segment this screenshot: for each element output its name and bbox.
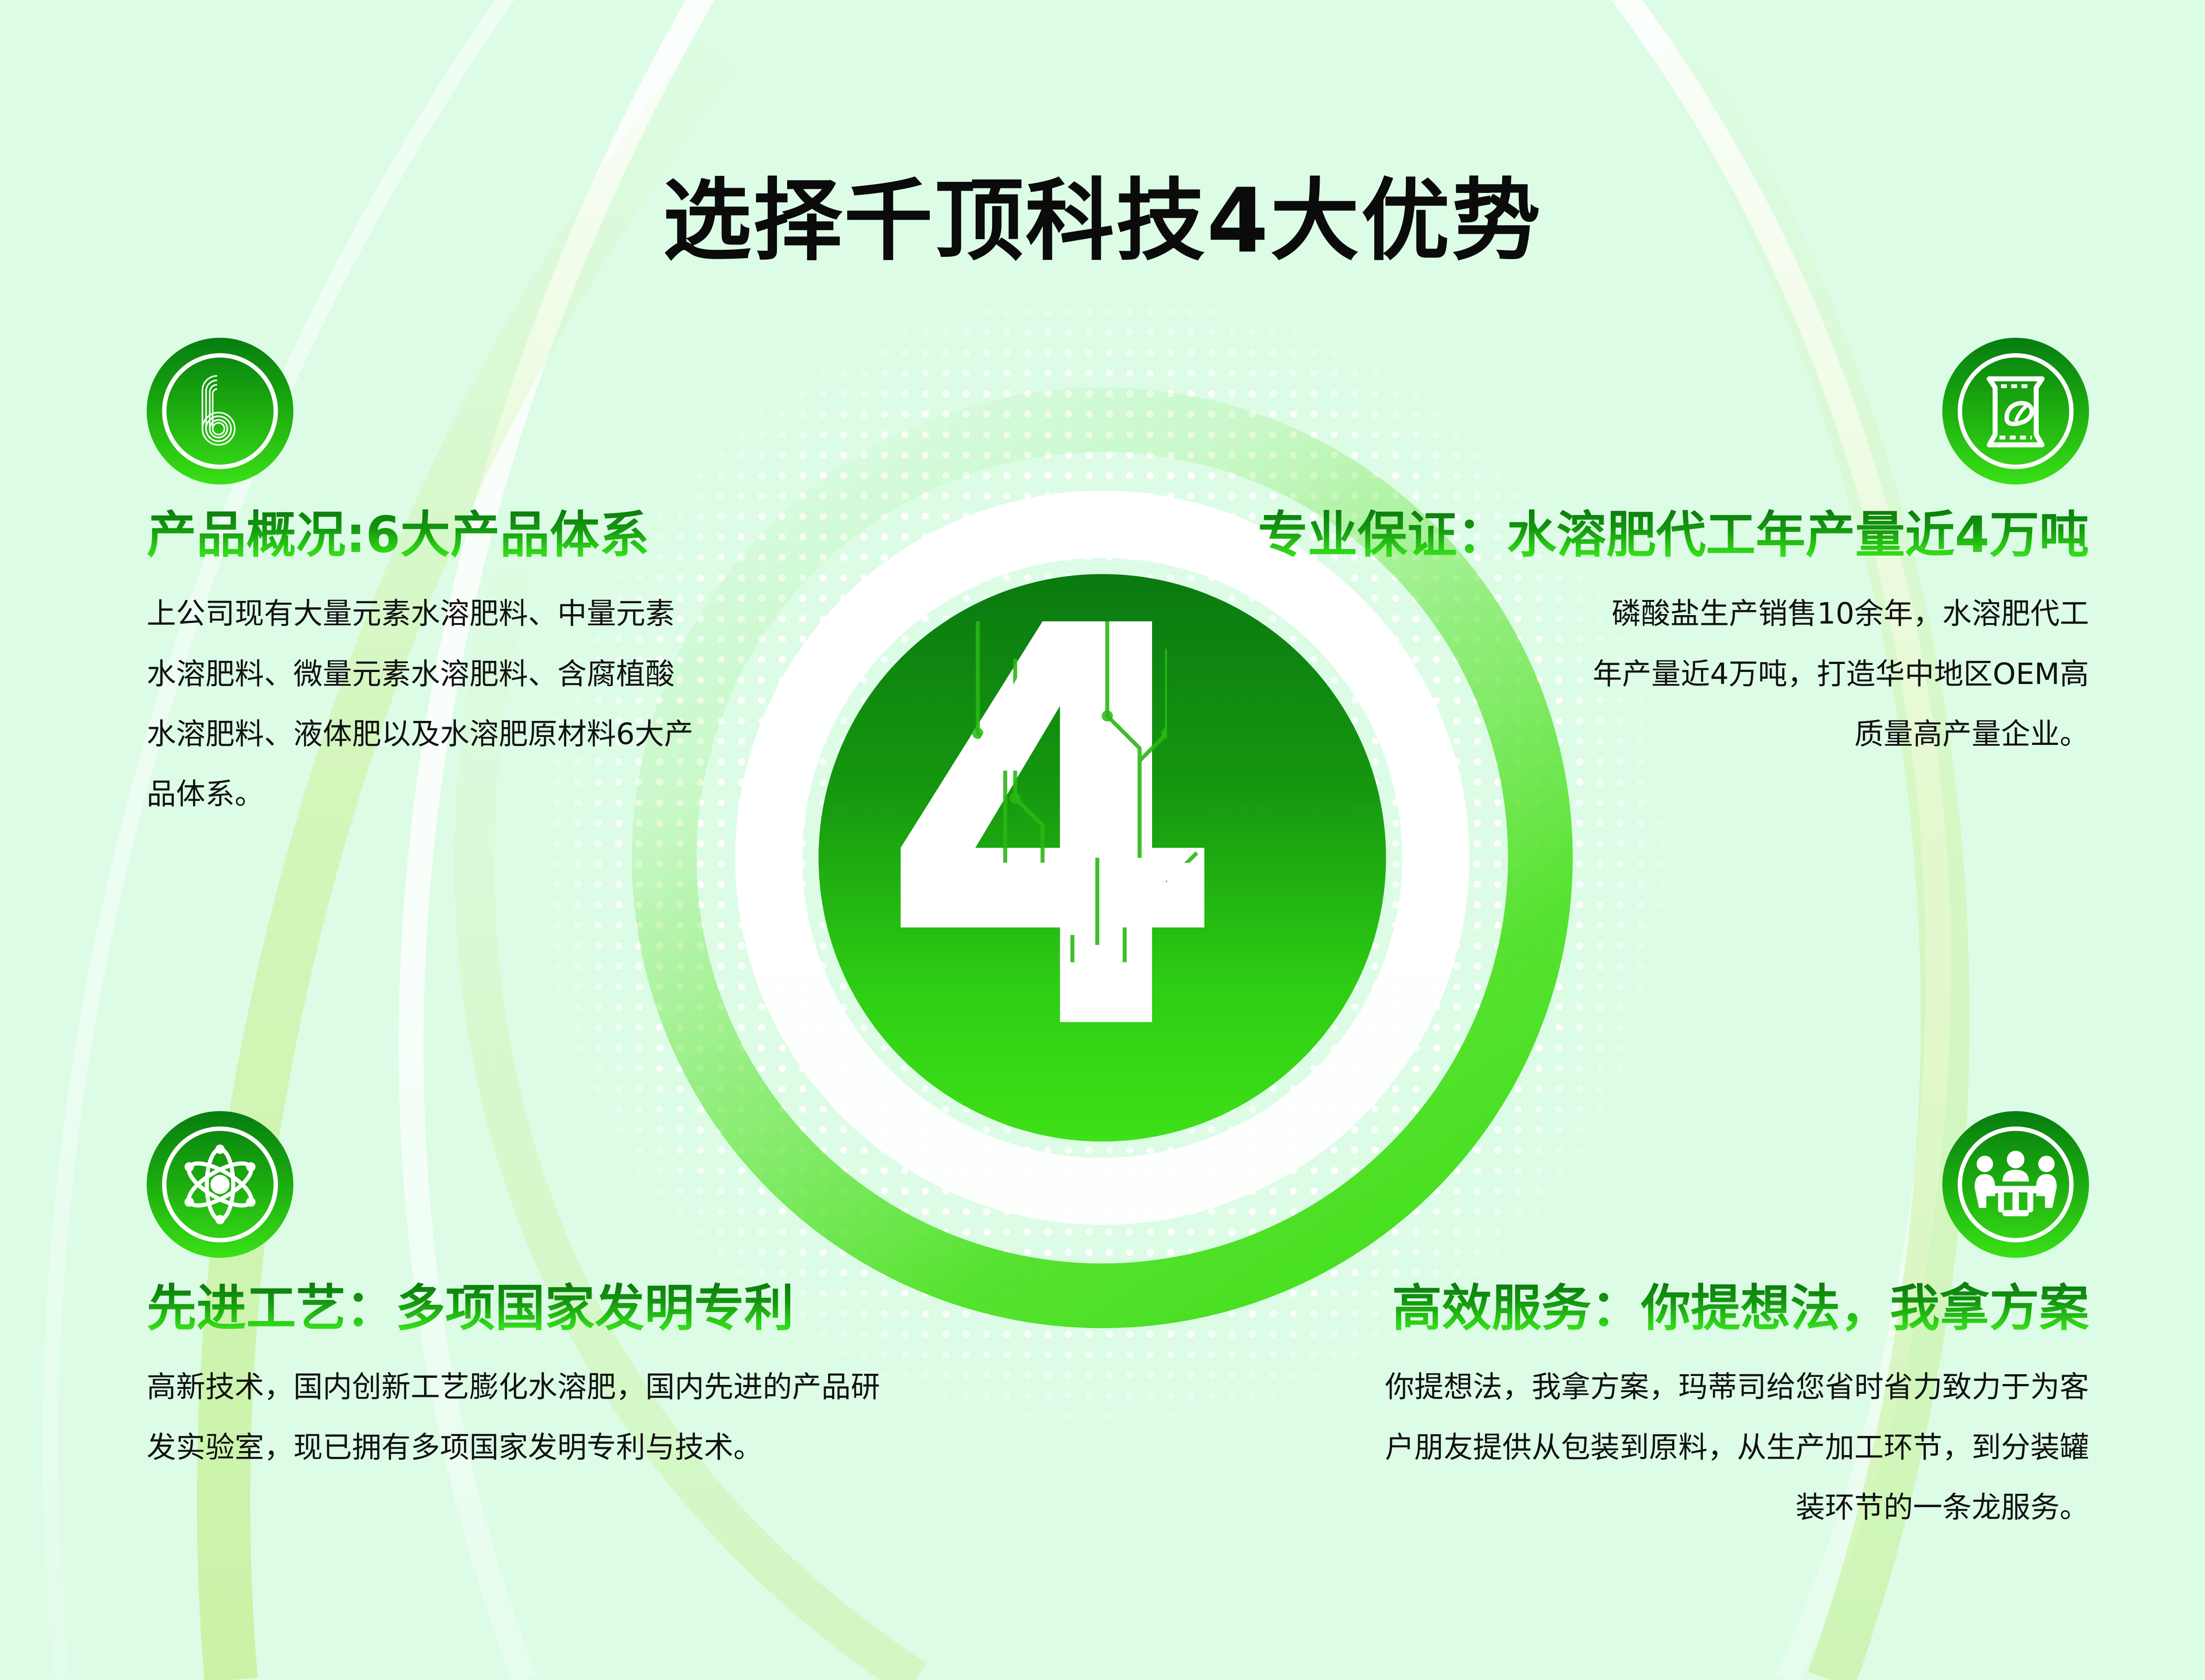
advantage-block-professional-guarantee: 专业保证：水溶肥代工年产量近4万吨 磷酸盐生产销售10余年，水溶肥代工年产量近4… [1191,338,2089,764]
advantage-body: 高新技术，国内创新工艺膨化水溶肥，国内先进的产品研发实验室，现已拥有多项国家发明… [147,1357,893,1477]
advantage-heading: 先进工艺：多项国家发明专利 [147,1281,893,1336]
fertilizer-bag-icon [1942,338,2089,484]
advantage-body: 你提想法，我拿方案，玛蒂司给您省时省力致力于为客户朋友提供从包装到原料，从生产加… [1382,1357,2089,1537]
fertilizer-bag-glyph [1942,338,2089,484]
advantage-body: 上公司现有大量元素水溶肥料、中量元素水溶肥料、微量元素水溶肥料、含腐植酸水溶肥料… [147,584,693,824]
numeral-six-ripple-glyph [147,338,293,484]
advantage-heading: 高效服务：你提想法，我拿方案 [1316,1281,2089,1336]
meeting-people-glyph [1942,1111,2089,1258]
meeting-people-icon [1942,1111,2089,1258]
page-title: 选择千顶科技4大优势 [0,148,2205,277]
advantage-heading: 产品概况:6大产品体系 [147,508,711,563]
atom-glyph [147,1111,293,1258]
numeral-six-ripple-icon [147,338,293,484]
advantage-block-efficient-service: 高效服务：你提想法，我拿方案 你提想法，我拿方案，玛蒂司给您省时省力致力于为客户… [1316,1111,2089,1537]
advantage-block-advanced-process: 先进工艺：多项国家发明专利 高新技术，国内创新工艺膨化水溶肥，国内先进的产品研发… [147,1111,893,1477]
atom-icon [147,1111,293,1258]
advantage-heading: 专业保证：水溶肥代工年产量近4万吨 [1191,508,2089,563]
advantage-body: 磷酸盐生产销售10余年，水溶肥代工年产量近4万吨，打造华中地区OEM高质量高产量… [1587,584,2089,764]
advantage-block-product-overview: 产品概况:6大产品体系 上公司现有大量元素水溶肥料、中量元素水溶肥料、微量元素水… [147,338,711,824]
